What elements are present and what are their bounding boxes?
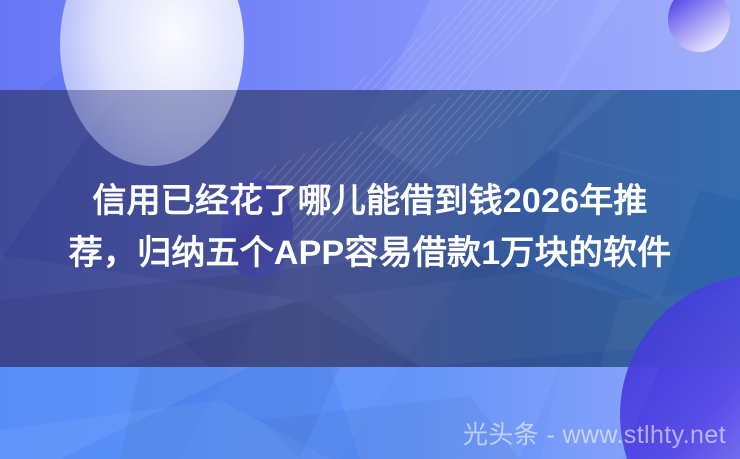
site-watermark: 光头条 - www.stlhty.net [463, 418, 726, 452]
background-artwork [0, 0, 740, 459]
banner-image: 信用已经花了哪儿能借到钱2026年推荐，归纳五个APP容易借款1万块的软件 光头… [0, 0, 740, 459]
